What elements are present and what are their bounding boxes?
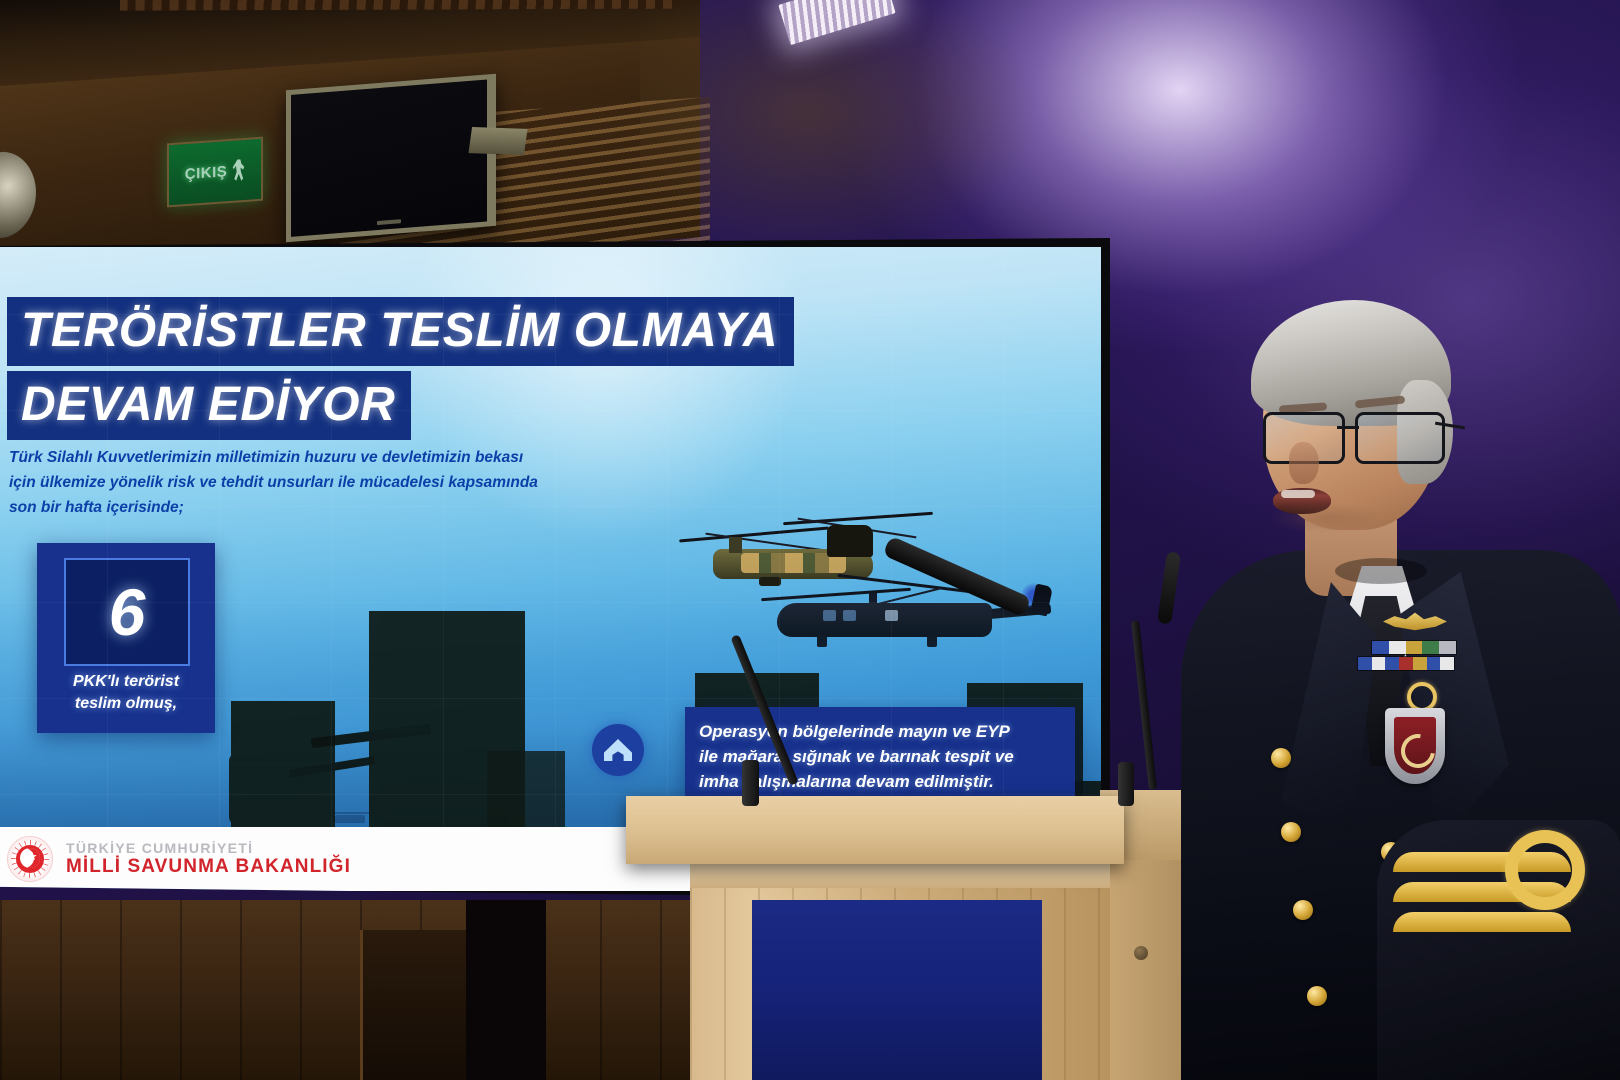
slide-headline-line2: DEVAM EDİYOR — [7, 371, 411, 440]
exit-sign: ÇIKIŞ — [167, 137, 263, 208]
turkish-ministry-of-defence-emblem — [7, 836, 53, 882]
exit-sign-label: ÇIKIŞ — [185, 163, 228, 183]
military-spokesperson — [1185, 296, 1620, 1080]
ribbon-bar-row-1 — [1371, 640, 1457, 655]
running-man-exit-icon — [232, 159, 245, 182]
ceiling-slats — [120, 0, 680, 11]
lectern-knob — [1134, 946, 1148, 960]
ministry-wordmark: TÜRKİYE CUMHURİYETİ MİLLİ SAVUNMA BAKANL… — [66, 840, 351, 879]
statistic-caption-line1: PKK'lı terörist — [37, 671, 215, 693]
wall-monitor — [286, 74, 496, 243]
body-line-1: Türk Silahlı Kuvvetlerimizin milletimizi… — [9, 445, 565, 470]
wall-warm-glow — [640, 0, 1060, 250]
chin-shadow — [1269, 502, 1381, 534]
ministry-line-1: TÜRKİYE CUMHURİYETİ — [66, 840, 351, 857]
screenshot-root: ÇIKIŞ — [0, 0, 1620, 1080]
uniform-button — [1271, 748, 1291, 768]
wall-gap-shadow — [466, 900, 546, 1080]
statistic-number: 6 — [109, 579, 146, 645]
statistic-number-frame: 6 — [64, 558, 190, 666]
executive-curl — [1505, 830, 1585, 910]
ribbon-bar-row-2 — [1357, 656, 1455, 671]
door-frame — [360, 930, 483, 1080]
statistic-card: 6 PKK'lı terörist teslim olmuş, — [37, 543, 215, 733]
statistic-caption-line2: teslim olmuş, — [37, 693, 215, 715]
slide-body-text: Türk Silahlı Kuvvetlerimizin milletimizi… — [9, 445, 565, 520]
lower-wood-panelling — [0, 900, 700, 1080]
nose — [1289, 442, 1319, 484]
ministry-line-2: MİLLİ SAVUNMA BAKANLIĞI — [66, 856, 351, 878]
lectern-rail — [690, 862, 1110, 888]
cave-shelter-icon — [592, 724, 644, 776]
body-line-3: son bir hafta içerisinde; — [9, 495, 565, 520]
slide-headline-line1: TERÖRİSTLER TESLİM OLMAYA — [7, 297, 794, 366]
statistic-caption: PKK'lı terörist teslim olmuş, — [37, 671, 215, 715]
callout-line-1: Operasyon bölgelerinde mayın ve EYP — [699, 719, 1061, 744]
monitor-mount-arm — [468, 127, 527, 155]
body-line-2: için ülkemize yönelik risk ve tehdit uns… — [9, 470, 565, 495]
silver-red-shield-badge — [1385, 708, 1445, 784]
uniform-button — [1281, 822, 1301, 842]
monitor-brand-mark — [377, 219, 401, 225]
rank-sleeve-braid — [1393, 852, 1571, 948]
uniform-button — [1307, 986, 1327, 1006]
lectern-inset-panel — [752, 900, 1042, 1080]
lectern-top-surface — [626, 796, 1124, 864]
eyeglass-lens-right — [1355, 412, 1445, 464]
uniform-button — [1293, 900, 1313, 920]
eyeglass-bridge — [1337, 426, 1359, 429]
collar-shadow — [1335, 558, 1427, 584]
